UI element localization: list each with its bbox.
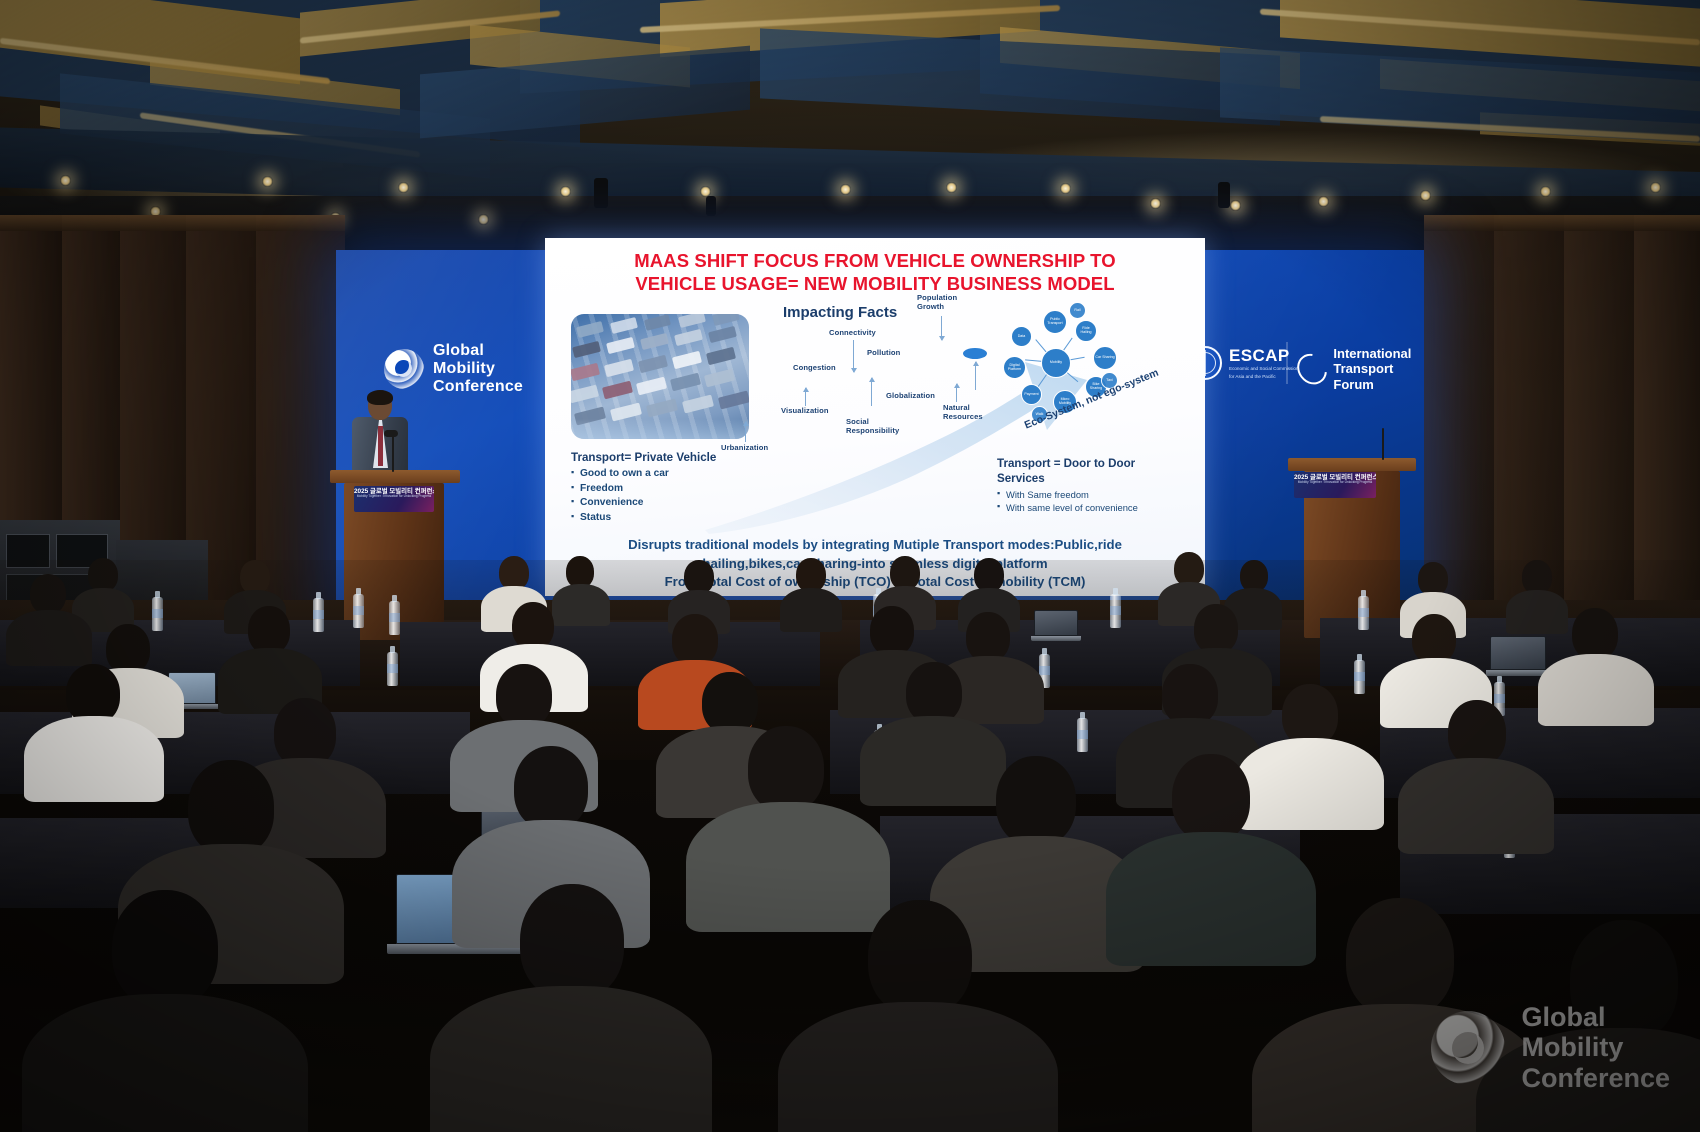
podium-sign-right: 2025 글로벌 모빌리티 컨퍼런스 Mobility Together : I… bbox=[1294, 472, 1376, 498]
global-mobility-conference-logo: Global Mobility Conference bbox=[384, 342, 523, 397]
right-bullet-2: With same level of convenience bbox=[997, 501, 1172, 514]
line-visualization bbox=[805, 388, 806, 406]
podium-sign-subtitle-right: Mobility Together : Innovation for Unloc… bbox=[1294, 481, 1376, 485]
left-text-block: Transport= Private Vehicle Good to own a… bbox=[571, 450, 771, 525]
podium-sign-subtitle: Mobility Together : Innovation for Unloc… bbox=[354, 495, 434, 499]
table-row bbox=[400, 622, 820, 686]
label-social-responsibility: SocialResponsibility bbox=[846, 418, 899, 436]
eco-bubble: Payment bbox=[1021, 384, 1042, 405]
line-population bbox=[941, 316, 942, 340]
line-center-up bbox=[975, 362, 976, 390]
conference-photo: Global Mobility Conference ESCAP Economi… bbox=[0, 0, 1700, 1132]
presenter-hair bbox=[367, 390, 393, 405]
eco-bubble: Car Sharing bbox=[1093, 346, 1117, 370]
eco-bubble-center: Mobility bbox=[1041, 348, 1071, 378]
bottom-line-1: Disrupts traditional models by integrati… bbox=[563, 536, 1187, 555]
water-bottle bbox=[1110, 594, 1121, 628]
line-natural-resources bbox=[956, 384, 957, 402]
eco-bubble: Digital Platform bbox=[1003, 356, 1026, 379]
label-natural-resources: NaturalResources bbox=[943, 404, 983, 422]
gm-logo-text: Global Mobility Conference bbox=[433, 342, 523, 397]
slide-title: MAAS SHIFT FOCUS FROM VEHICLE OWNERSHIP … bbox=[567, 249, 1183, 296]
watermark-text: Global Mobility Conference bbox=[1521, 1002, 1670, 1094]
label-connectivity: Connectivity bbox=[829, 329, 876, 338]
escap-text: ESCAP Economic and Social Commission for… bbox=[1229, 347, 1298, 379]
label-globalization: Globalization bbox=[886, 392, 935, 401]
label-pollution: Pollution bbox=[867, 349, 900, 358]
label-visualization: Visualization bbox=[781, 407, 829, 416]
podium-sign-left: 2025 글로벌 모빌리티 컨퍼런스 Mobility Together : I… bbox=[354, 486, 434, 512]
impacting-facts-heading: Impacting Facts bbox=[783, 304, 897, 321]
eco-bubble: Rail bbox=[1069, 302, 1086, 319]
itf-swoosh-icon bbox=[1291, 348, 1333, 391]
line-globalization bbox=[871, 378, 872, 406]
left-bullet-4: Status bbox=[571, 511, 771, 525]
water-bottle bbox=[1354, 660, 1365, 694]
left-bullet-1: Good to own a car bbox=[571, 467, 771, 481]
water-bottle bbox=[313, 598, 324, 632]
right-bullet-1: With Same freedom bbox=[997, 488, 1172, 501]
ceiling bbox=[0, 0, 1700, 250]
left-block-heading: Transport= Private Vehicle bbox=[571, 450, 771, 465]
watermark-globe-icon bbox=[1431, 1011, 1505, 1085]
water-bottle bbox=[152, 597, 163, 631]
right-block-heading-1: Transport = Door to Door bbox=[997, 456, 1172, 471]
right-block-heading-2: Services bbox=[997, 471, 1172, 486]
presentation-slide: MAAS SHIFT FOCUS FROM VEHICLE OWNERSHIP … bbox=[545, 238, 1205, 596]
left-bullet-2: Freedom bbox=[571, 482, 771, 496]
presenter-tie bbox=[378, 426, 383, 466]
water-bottle bbox=[1077, 718, 1088, 752]
water-bottle bbox=[353, 594, 364, 628]
water-bottle bbox=[1358, 596, 1369, 630]
eco-bubble: Data bbox=[1011, 326, 1032, 347]
line-urbanization bbox=[745, 422, 746, 442]
international-transport-forum-logo: International Transport Forum bbox=[1298, 346, 1424, 392]
globe-swirl-icon bbox=[384, 349, 424, 389]
eco-bubble: Ride Hailing bbox=[1075, 320, 1097, 342]
label-population-growth: PopulationGrowth bbox=[917, 294, 957, 312]
center-node-dot bbox=[963, 348, 987, 359]
line-connectivity bbox=[853, 340, 854, 372]
label-congestion: Congestion bbox=[793, 364, 836, 373]
left-bullet-3: Convenience bbox=[571, 496, 771, 510]
eco-bubble: Public Transport bbox=[1043, 310, 1067, 334]
water-bottle bbox=[389, 601, 400, 635]
itf-text: International Transport Forum bbox=[1333, 346, 1424, 392]
water-bottle bbox=[387, 652, 398, 686]
global-mobility-conference-watermark: Global Mobility Conference bbox=[1431, 1002, 1670, 1094]
right-text-block: Transport = Door to Door Services With S… bbox=[997, 456, 1172, 515]
logo-divider bbox=[1286, 342, 1288, 384]
